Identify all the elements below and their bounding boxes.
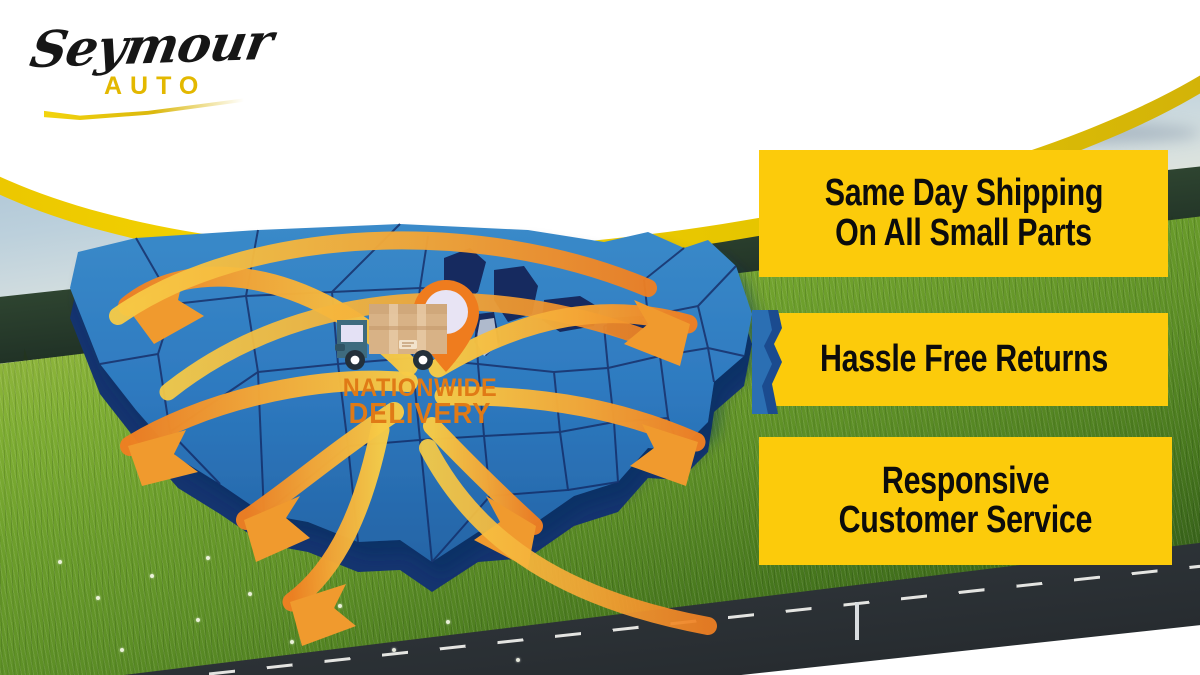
logo-auto-text: AUTO: [104, 72, 206, 101]
delivery-truck-icon: [333, 300, 453, 372]
logo[interactable]: Seymour AUTO: [26, 14, 256, 124]
panel3-line2: Customer Service: [839, 501, 1092, 540]
delivery-label: DELIVERY: [331, 398, 510, 431]
panel3-line1: Responsive: [882, 462, 1049, 501]
responsive-customer-service-panel[interactable]: Responsive Customer Service: [759, 437, 1172, 565]
panel2-line1: Hassle Free Returns: [820, 340, 1108, 379]
marker-post: [855, 602, 859, 640]
logo-script-text: Seymour: [26, 12, 277, 79]
banner-canvas: Seymour AUTO: [0, 0, 1200, 675]
panel1-line2: On All Small Parts: [835, 214, 1092, 253]
panel1-line1: Same Day Shipping: [824, 174, 1102, 213]
nationwide-delivery-badge: NATIONWIDE DELIVERY: [325, 278, 515, 453]
same-day-shipping-panel[interactable]: Same Day Shipping On All Small Parts: [759, 150, 1168, 277]
hassle-free-returns-panel[interactable]: Hassle Free Returns: [759, 313, 1168, 406]
